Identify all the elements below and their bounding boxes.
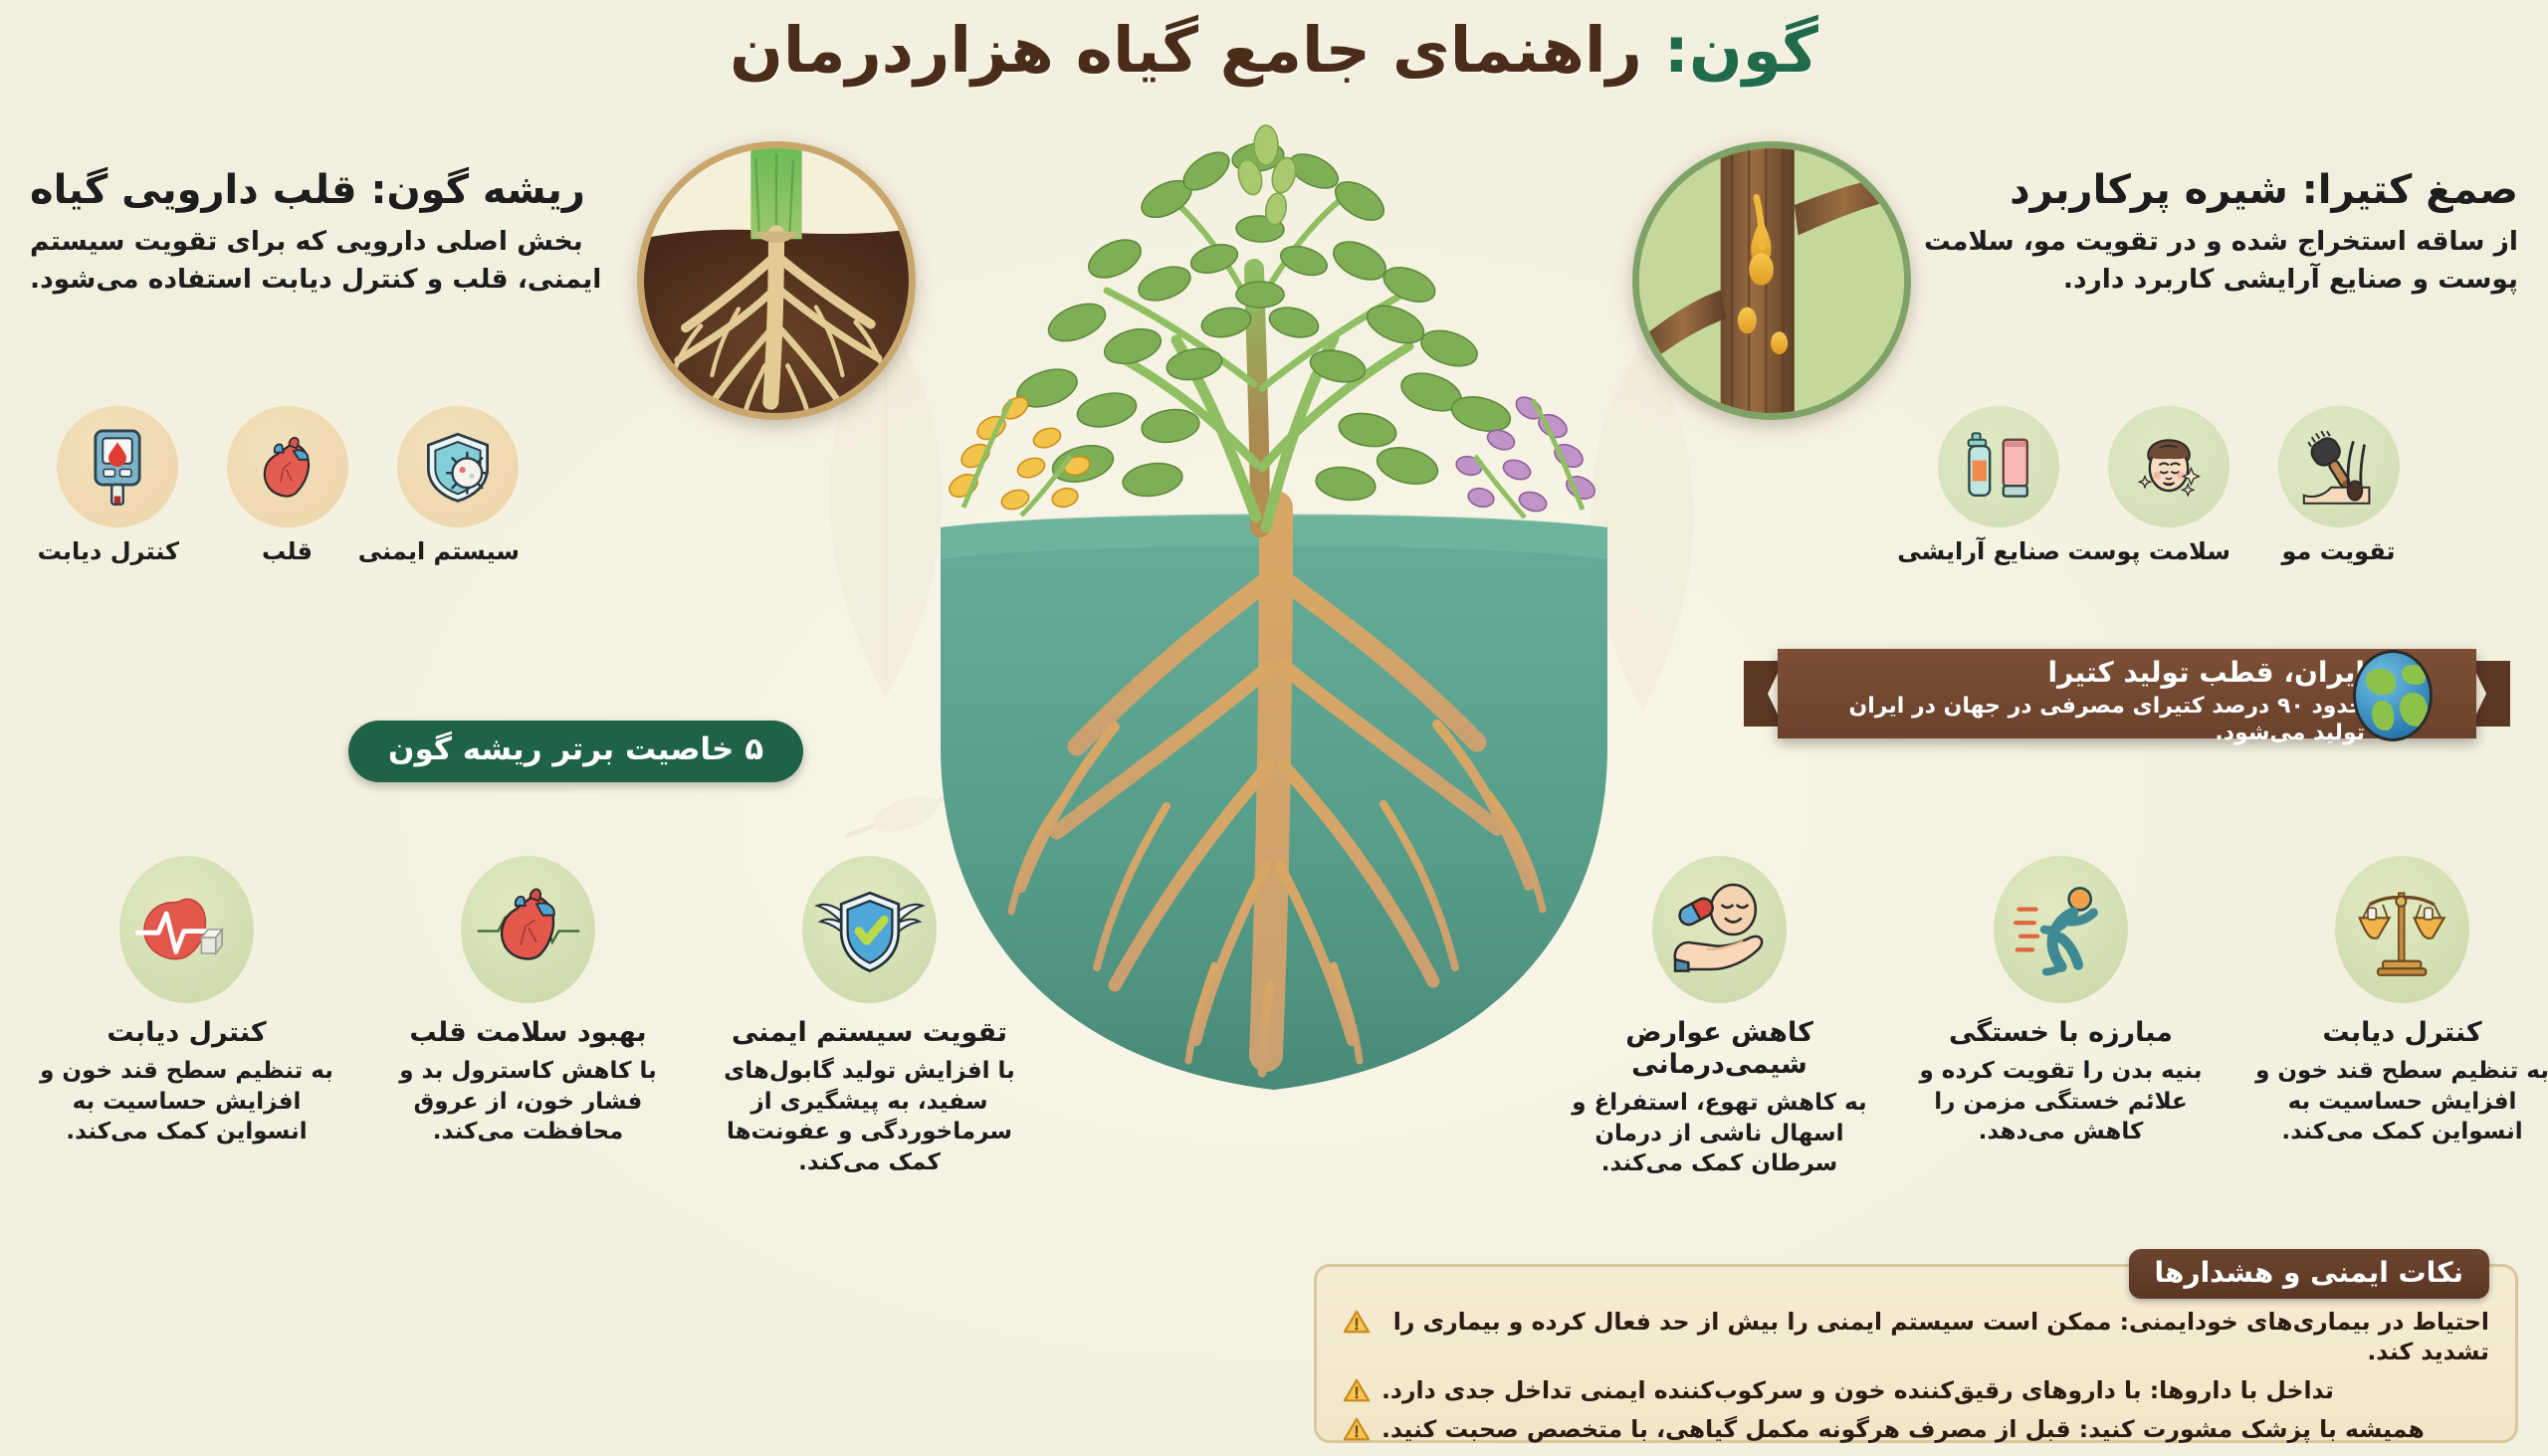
icon-label-skin: سلامت پوست xyxy=(2106,537,2230,566)
hairbrush-icon xyxy=(2278,406,2400,527)
safety-item-text: تداخل با داروها: با داروهای رقیق‌کننده خ… xyxy=(1381,1375,2334,1405)
icon-label-diabetes: کنترل دیابت xyxy=(55,537,179,566)
page-title: گون: راهنمای جامع گیاه هزاردرمان xyxy=(0,14,2548,87)
safety-item: همیشه با پزشک مشورت کنید: قبل از مصرف هر… xyxy=(1343,1414,2489,1444)
page-title-rest: راهنمای جامع گیاه هزاردرمان xyxy=(730,14,1664,87)
icon-label-cosmetics: صنایع آرایشی xyxy=(1936,537,2060,566)
safety-heading: نکات ایمنی و هشدارها xyxy=(2129,1249,2489,1299)
icon-row-root-benefits: سیستم ایمنی قلب xyxy=(55,406,520,566)
benefit-title: تقویت سیستم ایمنی xyxy=(703,1017,1036,1049)
iran-production-ribbon: ایران، قطب تولید کتیرا حدود ۹۰ درصد کتیر… xyxy=(1744,649,2510,738)
ribbon-subtitle: حدود ۹۰ درصد کتیرای مصرفی در جهان در ایر… xyxy=(1800,694,2365,746)
benefit-body: با افزایش تولید گابول‌های سفید، به پیشگی… xyxy=(703,1056,1036,1178)
ribbon-title: ایران، قطب تولید کتیرا xyxy=(1800,657,2365,689)
benefit-title: مبارزه با خستگی xyxy=(1894,1017,2228,1049)
benefit-body: به کاهش تهوع، استفراغ و اسهال ناشی از در… xyxy=(1553,1088,1886,1179)
benefit-title: کاهش عوارض شیمی‌درمانی xyxy=(1553,1017,1886,1081)
icon-label-hair: تقویت مو xyxy=(2276,537,2401,566)
benefit-title: کنترل دیابت xyxy=(2235,1017,2548,1049)
icon-row-gum-uses: تقویت مو xyxy=(1936,406,2401,566)
benefit-card-immune[interactable]: تقویت سیستم ایمنی با افزایش تولید گابول‌… xyxy=(703,856,1036,1178)
heart-ecg-icon xyxy=(461,856,595,1003)
running-person-icon xyxy=(1994,856,2128,1003)
section-root-heading: ریشه گون: قلب دارویی گیاه xyxy=(30,167,632,213)
benefit-card-diabetes-right[interactable]: کنترل دیابت به تنظیم سطح قند خون و افزای… xyxy=(2235,856,2548,1179)
icon-cell-immune[interactable]: سیستم ایمنی xyxy=(395,406,520,566)
benefit-body: به تنظیم سطح قند خون و افزایش حساسیت به … xyxy=(20,1056,353,1147)
safety-item-text: همیشه با پزشک مشورت کنید: قبل از مصرف هر… xyxy=(1381,1414,2425,1444)
section-gum-heading: صمغ کتیرا: شیره پرکاربرد xyxy=(1906,167,2518,213)
benefit-card-diabetes-left[interactable]: کنترل دیابت به تنظیم سطح قند خون و افزای… xyxy=(20,856,353,1178)
safety-item-text: احتیاط در بیماری‌های خودایمنی: ممکن است … xyxy=(1381,1307,2489,1366)
section-gum: صمغ کتیرا: شیره پرکاربرد از ساقه استخراج… xyxy=(1906,167,2518,299)
benefit-title: کنترل دیابت xyxy=(20,1017,353,1049)
safety-list: احتیاط در بیماری‌های خودایمنی: ممکن است … xyxy=(1343,1307,2489,1444)
glucometer-icon xyxy=(57,406,178,527)
benefit-cards-right: کنترل دیابت به تنظیم سطح قند خون و افزای… xyxy=(1553,856,2548,1179)
benefit-body: بنیه بدن را تقویت کرده و علائم خستگی مزم… xyxy=(1894,1056,2228,1147)
benefit-card-heart[interactable]: بهبود سلامت قلب با کاهش کاسترول بد و فشا… xyxy=(361,856,695,1178)
warning-triangle-icon xyxy=(1343,1416,1371,1442)
benefit-card-fatigue[interactable]: مبارزه با خستگی بنیه بدن را تقویت کرده و… xyxy=(1894,856,2228,1179)
benefit-title: بهبود سلامت قلب xyxy=(361,1017,695,1049)
safety-item: تداخل با داروها: با داروهای رقیق‌کننده خ… xyxy=(1343,1375,2489,1405)
icon-cell-cosmetics[interactable]: صنایع آرایشی xyxy=(1936,406,2060,566)
warning-triangle-icon xyxy=(1343,1309,1371,1335)
icon-cell-skin[interactable]: سلامت پوست xyxy=(2106,406,2230,566)
heart-icon xyxy=(227,406,348,527)
balance-scale-icon xyxy=(2335,856,2469,1003)
winged-shield-check-icon xyxy=(802,856,937,1003)
icon-label-heart: قلب xyxy=(225,537,349,566)
pill-hand-face-icon xyxy=(1652,856,1787,1003)
safety-item: احتیاط در بیماری‌های خودایمنی: ممکن است … xyxy=(1343,1307,2489,1366)
ribbon-tail-right xyxy=(2470,661,2510,727)
safety-warnings-box: نکات ایمنی و هشدارها احتیاط در بیماری‌ها… xyxy=(1314,1264,2518,1443)
icon-cell-hair[interactable]: تقویت مو xyxy=(2276,406,2401,566)
infographic-canvas: گون: راهنمای جامع گیاه هزاردرمان ریشه گو… xyxy=(0,0,2548,1456)
heart-pulse-sugar-icon xyxy=(119,856,254,1003)
page-title-accent: گون: xyxy=(1664,14,1818,87)
warning-triangle-icon xyxy=(1343,1377,1371,1403)
icon-cell-heart[interactable]: قلب xyxy=(225,406,349,566)
icon-cell-diabetes[interactable]: کنترل دیابت xyxy=(55,406,179,566)
benefit-card-chemo[interactable]: کاهش عوارض شیمی‌درمانی به کاهش تهوع، است… xyxy=(1553,856,1886,1179)
cosmetics-icon xyxy=(1938,406,2059,527)
top-benefits-badge: ۵ خاصیت برتر ریشه گون xyxy=(348,721,803,782)
face-glow-icon xyxy=(2108,406,2229,527)
globe-icon xyxy=(2353,650,2433,741)
benefit-body: به تنظیم سطح قند خون و افزایش حساسیت به … xyxy=(2235,1056,2548,1147)
section-root: ریشه گون: قلب دارویی گیاه بخش اصلی داروی… xyxy=(30,167,632,299)
benefit-body: با کاهش کاسترول بد و فشار خون، از عروق م… xyxy=(361,1056,695,1147)
section-gum-body: از ساقه استخراج شده و در تقویت مو، سلامت… xyxy=(1906,223,2518,298)
section-root-body: بخش اصلی دارویی که برای تقویت سیستم ایمن… xyxy=(30,223,632,298)
shield-virus-icon xyxy=(397,406,519,527)
icon-label-immune: سیستم ایمنی xyxy=(395,537,520,566)
benefit-cards-left: تقویت سیستم ایمنی با افزایش تولید گابول‌… xyxy=(20,856,1036,1178)
